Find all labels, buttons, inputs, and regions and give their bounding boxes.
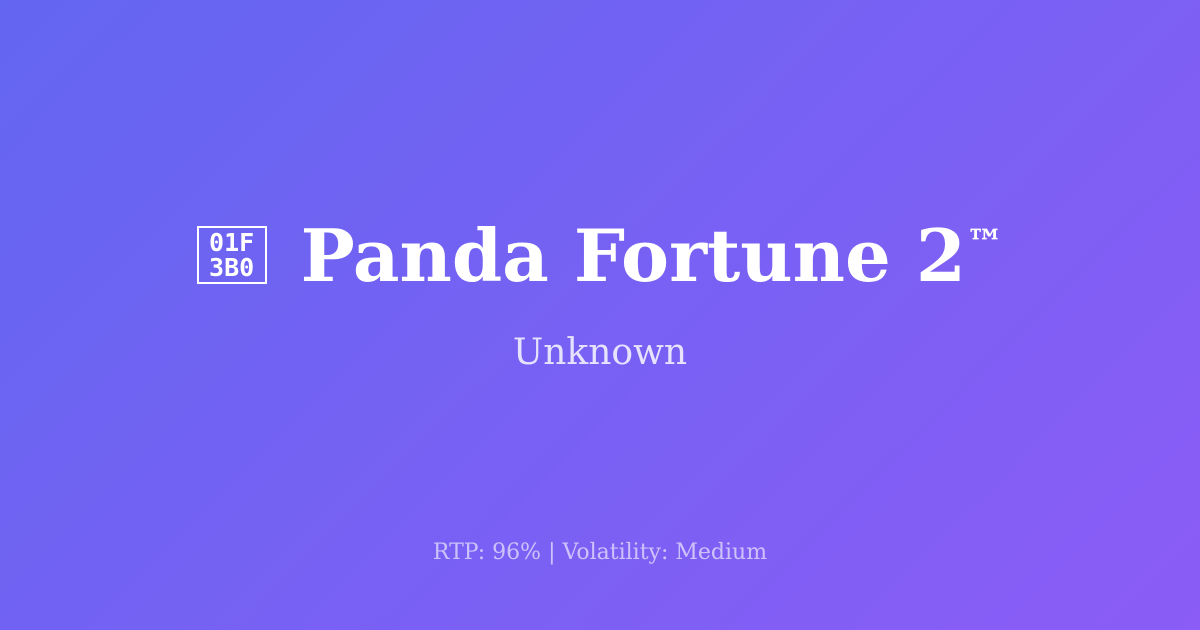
slot-machine-icon: 01F 3B0: [197, 226, 267, 284]
title-row: 01F 3B0 Panda Fortune 2™: [0, 218, 1200, 294]
provider-label: Unknown: [513, 331, 687, 374]
game-title-text: Panda Fortune 2: [301, 213, 966, 298]
game-preview-card: 01F 3B0 Panda Fortune 2™ Unknown RTP: 96…: [0, 0, 1200, 630]
slot-machine-icon-hex-top: 01F: [209, 230, 254, 255]
trademark-symbol: ™: [966, 221, 1003, 265]
page-title: Panda Fortune 2™: [301, 218, 1004, 294]
slot-machine-icon-hex-bottom: 3B0: [209, 255, 254, 280]
game-stats: RTP: 96% | Volatility: Medium: [0, 539, 1200, 568]
